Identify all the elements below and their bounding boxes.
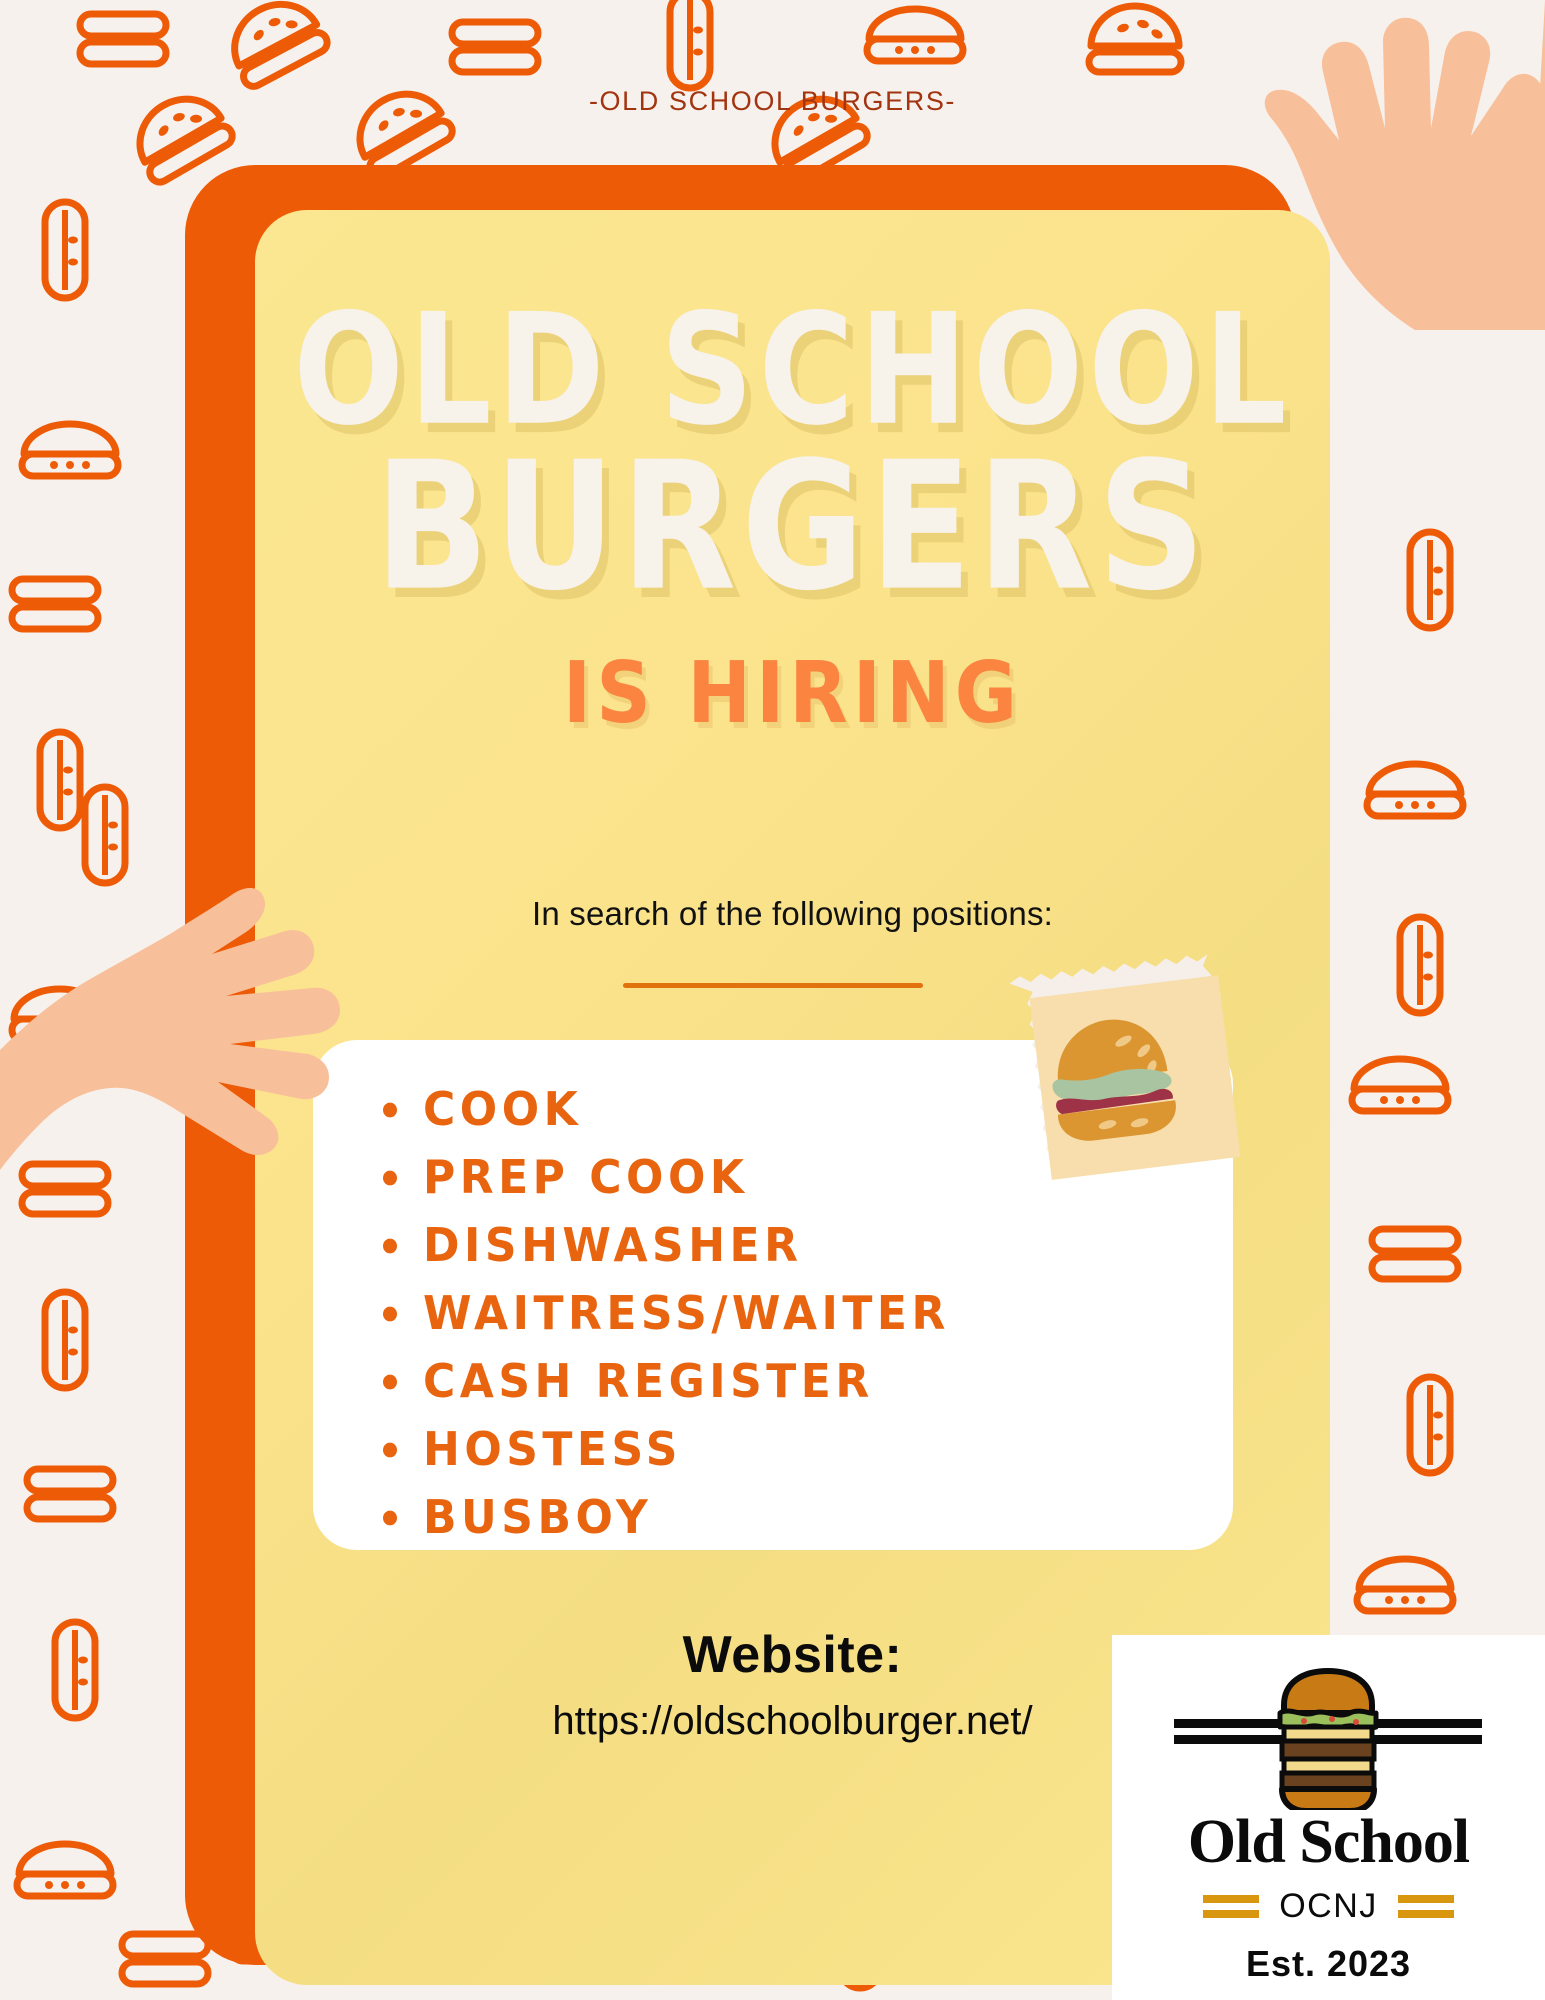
- bullet-icon: [383, 1511, 397, 1526]
- position-label: COOK: [423, 1082, 582, 1136]
- section-divider: [623, 983, 923, 988]
- burger-stamp-icon: [996, 941, 1274, 1215]
- burger-icon: [1112, 1635, 1545, 1810]
- position-item: HOSTESS: [423, 1414, 1233, 1486]
- logo-location-row: OCNJ: [1112, 1887, 1545, 1926]
- position-label: BUSBOY: [423, 1490, 652, 1544]
- position-item: BUSBOY: [423, 1482, 1233, 1554]
- positions-subtitle: In search of the following positions:: [255, 895, 1330, 933]
- bullet-icon: [383, 1239, 397, 1254]
- logo-established: Est. 2023: [1112, 1943, 1545, 1985]
- position-label: HOSTESS: [423, 1422, 682, 1476]
- position-item: DISHWASHER: [423, 1210, 1233, 1282]
- position-label: CASH REGISTER: [423, 1354, 874, 1408]
- bullet-icon: [383, 1171, 397, 1186]
- brand-logo-card: Old School OCNJ Est. 2023: [1112, 1635, 1545, 2000]
- logo-dash-right: [1398, 1895, 1454, 1918]
- bullet-icon: [383, 1375, 397, 1390]
- position-item: CASH REGISTER: [423, 1346, 1233, 1418]
- bullet-icon: [383, 1307, 397, 1322]
- logo-location: OCNJ: [1279, 1887, 1378, 1926]
- bullet-icon: [383, 1443, 397, 1458]
- position-label: DISHWASHER: [423, 1218, 802, 1272]
- poster-canvas: -OLD SCHOOL BURGERS- OLD SCHOOL BURGERS …: [0, 0, 1545, 2000]
- position-item: WAITRESS/WAITER: [423, 1278, 1233, 1350]
- page-header-caption: -OLD SCHOOL BURGERS-: [0, 86, 1545, 117]
- position-label: PREP COOK: [423, 1150, 748, 1204]
- logo-brand-name: Old School: [1112, 1807, 1545, 1878]
- logo-dash-left: [1203, 1895, 1259, 1918]
- bullet-icon: [383, 1103, 397, 1118]
- position-label: WAITRESS/WAITER: [423, 1286, 950, 1340]
